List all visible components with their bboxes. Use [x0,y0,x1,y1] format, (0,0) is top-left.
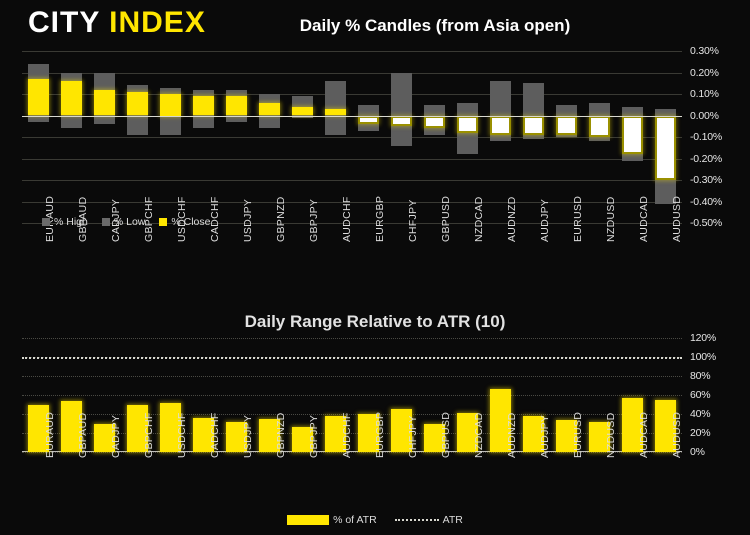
legend-swatch [287,515,329,525]
candle-body-down [490,116,510,135]
candle-body-up [259,103,279,116]
y-axis-tick: -0.20% [690,153,722,165]
y-axis-tick: 0.30% [690,45,719,57]
candle-body-down [457,116,477,133]
y-axis-tick: 40% [690,408,710,420]
x-axis-label: USDJPY [242,415,254,458]
x-axis-label: AUDCAD [638,196,650,242]
legend-swatch [159,218,167,226]
x-axis-label: GBPJPY [308,199,320,242]
candle-range [391,73,411,146]
brand-logo: CITY INDEX [28,8,206,38]
legend-swatch [395,519,439,521]
y-axis-tick: -0.50% [690,217,722,229]
legend-item: % of ATR [287,514,377,526]
legend-label: % of ATR [333,514,377,526]
x-axis-label: AUDUSD [671,196,683,242]
legend-label: % High [54,216,88,228]
gridline [22,338,682,339]
y-axis-tick: -0.30% [690,174,722,186]
x-axis-label: AUDJPY [539,199,551,242]
x-axis-label: AUDCAD [638,412,650,458]
candle-body-down [391,116,411,127]
candle-body-up [94,90,114,116]
x-axis-label: AUDNZD [506,412,518,458]
x-axis-label: CHFJPY [407,415,419,458]
candle-body-down [622,116,642,155]
x-axis-label: GBPNZD [275,196,287,242]
candle-body-up [160,94,180,116]
candle-body-down [655,116,675,181]
x-axis-label: AUDCHF [341,412,353,458]
candle-body-up [127,92,147,116]
x-axis-label: CADCHF [209,412,221,458]
candle-body-up [226,96,246,115]
y-axis-tick: -0.10% [690,131,722,143]
bottom-chart-title: Daily Range Relative to ATR (10) [175,312,575,332]
gridline [22,180,682,181]
atr-reference-line [22,357,682,359]
x-axis-label: CHFJPY [407,199,419,242]
x-axis-label: NZDCAD [473,196,485,242]
x-axis-label: CADJPY [110,415,122,458]
x-axis-label: GBPUSD [440,412,452,458]
candle [391,51,411,223]
x-axis-label: NZDUSD [605,412,617,458]
y-axis-tick: 0.20% [690,67,719,79]
y-axis-tick: 60% [690,389,710,401]
x-axis-label: EURUSD [572,412,584,458]
gridline [22,137,682,138]
x-axis-label: NZDCAD [473,412,485,458]
gridline [22,376,682,377]
candle [226,51,246,223]
candle-range [325,81,345,135]
x-axis-label: EURAUD [44,412,56,458]
y-axis-tick: 0.10% [690,88,719,100]
x-axis-label: EURGBP [374,412,386,458]
x-axis-label: GBPJPY [308,415,320,458]
chart-canvas: CITY INDEX Daily % Candles (from Asia op… [0,0,750,535]
y-axis-tick: 120% [690,332,716,344]
candle [292,51,312,223]
top-chart-title: Daily % Candles (from Asia open) [250,16,620,36]
candle-body-up [28,79,48,116]
brand-city: CITY [28,6,100,39]
x-axis-label: NZDUSD [605,196,617,242]
y-axis-tick: 80% [690,370,710,382]
x-axis-label: EURGBP [374,196,386,242]
gridline [22,94,682,95]
x-axis-label: GBPUSD [440,196,452,242]
candle-body-down [358,116,378,125]
y-axis-tick: 100% [690,351,716,363]
x-axis-label: AUDJPY [539,415,551,458]
x-axis-label: GBPAUD [77,413,89,458]
legend-swatch [42,218,50,226]
gridline [22,73,682,74]
candle-body-down [523,116,543,135]
legend-item: ATR [395,514,463,526]
x-axis-label: GBPCHF [143,412,155,458]
x-axis-label: AUDUSD [671,412,683,458]
candle-body-down [556,116,576,135]
candle-body-down [589,116,609,138]
x-axis-label: USDJPY [242,199,254,242]
brand-index: INDEX [109,6,206,39]
x-axis-label: AUDNZD [506,196,518,242]
legend-item: % High [42,216,88,228]
legend-label: ATR [443,514,463,526]
y-axis-tick: 20% [690,427,710,439]
x-axis-label: USDCHF [176,412,188,458]
candle [94,51,114,223]
legend-label: % Close [171,216,210,228]
gridline [22,51,682,52]
top-chart-legend: % High% Low% Close [42,216,210,228]
y-axis-tick: -0.40% [690,196,722,208]
gridline [22,395,682,396]
y-axis-tick: 0.00% [690,110,719,122]
legend-swatch [102,218,110,226]
y-axis-tick: 0% [690,446,705,458]
candle-body-up [292,107,312,116]
candle-body-down [424,116,444,129]
candle-body-up [193,96,213,115]
candle-body-up [61,81,81,115]
legend-label: % Low [114,216,146,228]
bottom-chart-legend: % of ATRATR [0,514,750,526]
legend-item: % Low [102,216,146,228]
zero-line [22,116,682,117]
x-axis-label: GBPNZD [275,412,287,458]
x-axis-label: AUDCHF [341,196,353,242]
x-axis-label: EURUSD [572,196,584,242]
legend-item: % Close [159,216,210,228]
candle [523,51,543,223]
gridline [22,159,682,160]
